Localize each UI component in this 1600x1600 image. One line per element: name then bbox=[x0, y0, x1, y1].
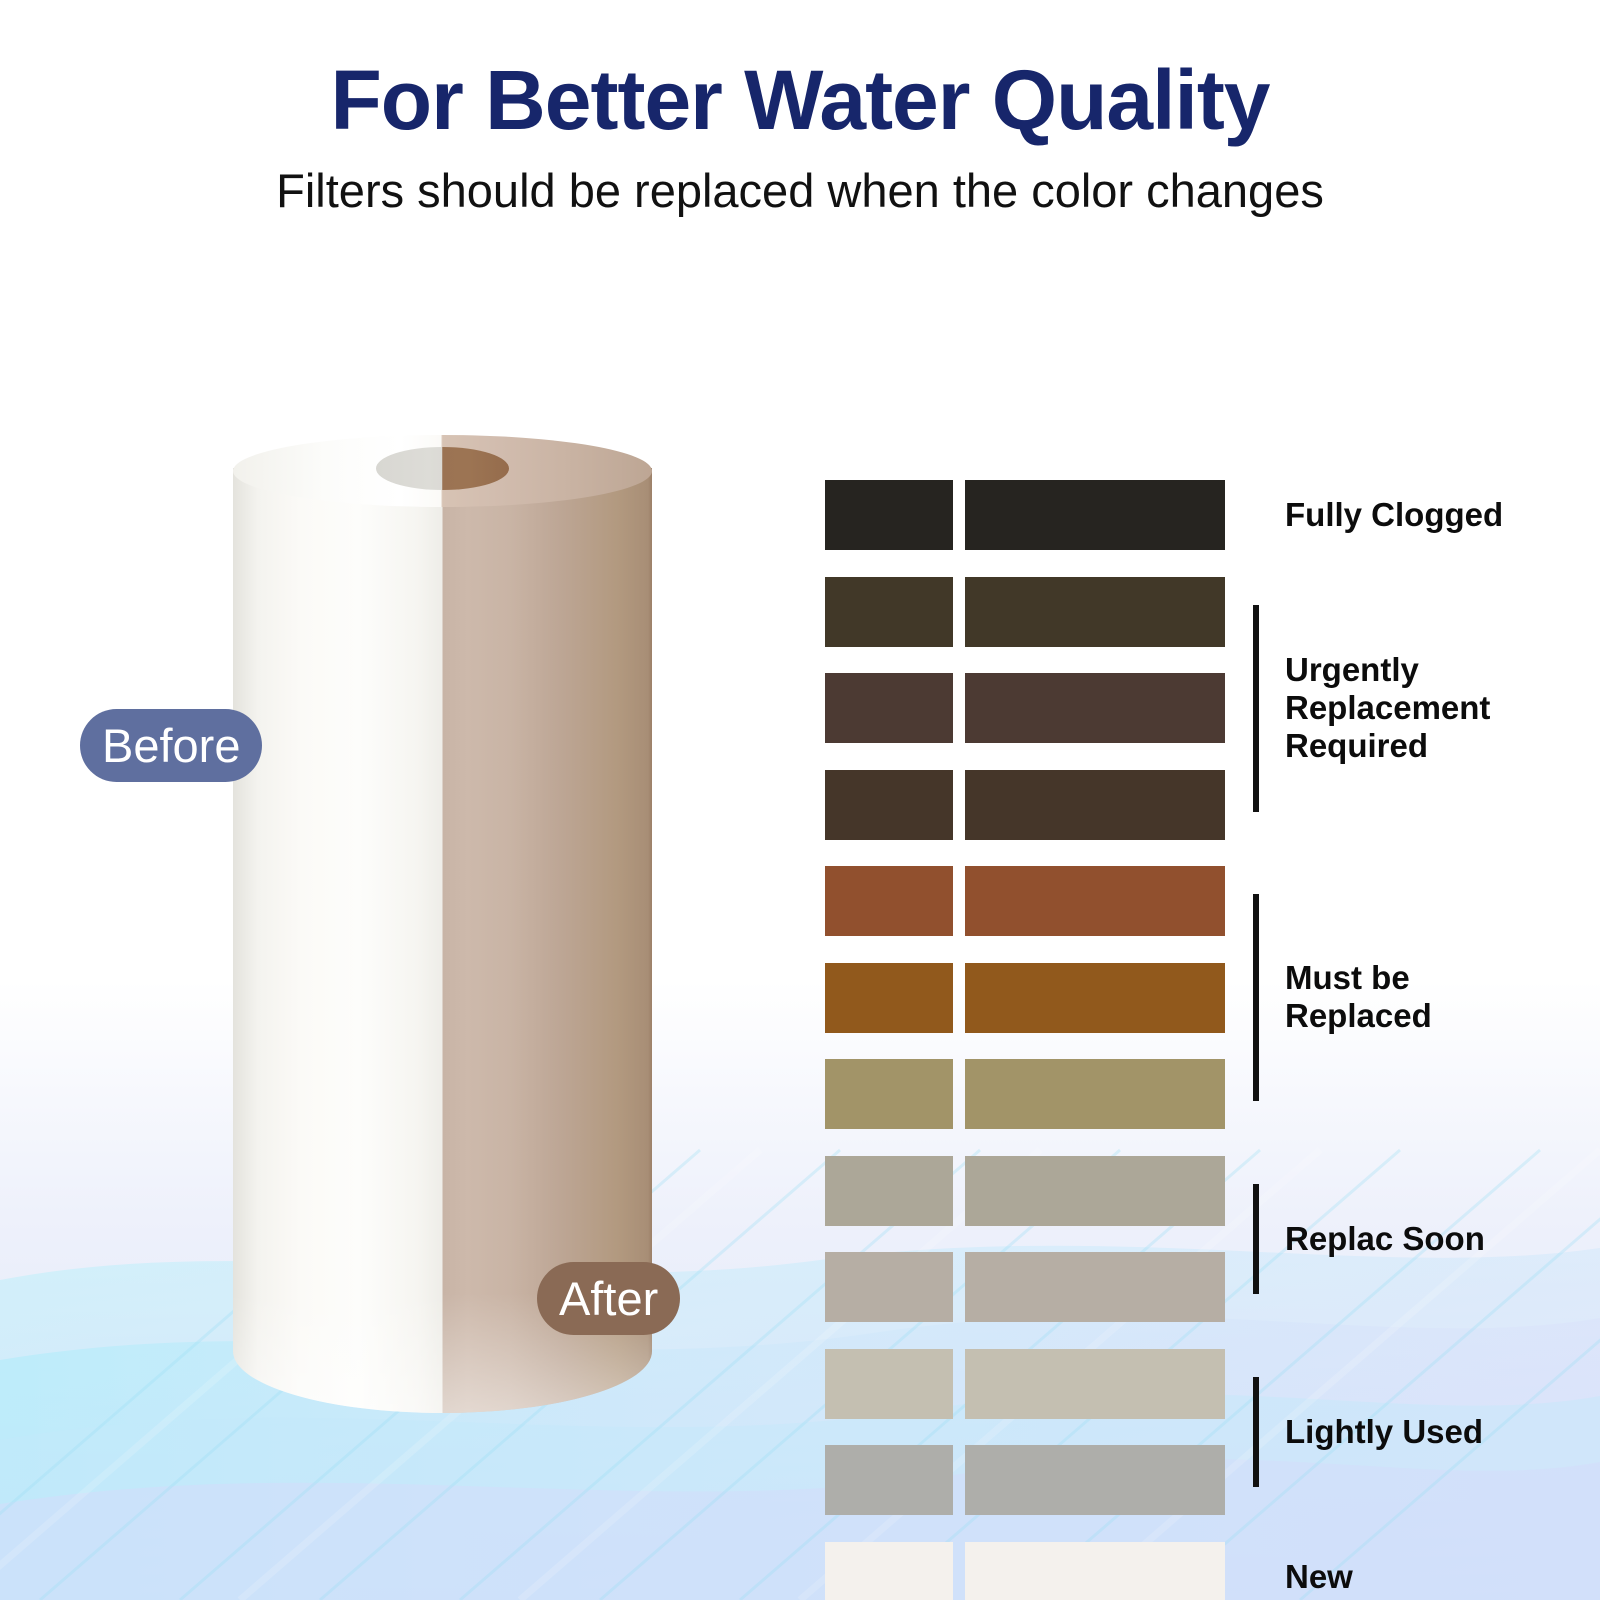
swatch-small bbox=[825, 673, 953, 743]
swatch-wide bbox=[965, 1349, 1225, 1419]
legend-label: Must be Replaced bbox=[1285, 959, 1432, 1036]
page-subtitle: Filters should be replaced when the colo… bbox=[0, 166, 1600, 215]
before-badge-label: Before bbox=[102, 722, 240, 769]
swatch-wide bbox=[965, 673, 1225, 743]
swatch-row bbox=[825, 1445, 1225, 1515]
swatch-small bbox=[825, 480, 953, 550]
filter-center-hole bbox=[376, 447, 509, 490]
legend-label: Replac Soon bbox=[1285, 1220, 1485, 1258]
swatch-wide bbox=[965, 480, 1225, 550]
swatch-small bbox=[825, 1349, 953, 1419]
swatch-row bbox=[825, 866, 1225, 936]
swatch-row bbox=[825, 1156, 1225, 1226]
swatch-wide bbox=[965, 963, 1225, 1033]
swatch-row bbox=[825, 673, 1225, 743]
swatch-row bbox=[825, 1349, 1225, 1419]
after-badge-label: After bbox=[559, 1275, 658, 1322]
swatch-wide bbox=[965, 1542, 1225, 1600]
swatch-wide bbox=[965, 1252, 1225, 1322]
swatch-small bbox=[825, 1059, 953, 1129]
promo-graphic: For Better Water Quality Filters should … bbox=[0, 0, 1600, 1600]
legend-bracket bbox=[1253, 894, 1259, 1101]
swatch-row bbox=[825, 1542, 1225, 1600]
swatch-wide bbox=[965, 866, 1225, 936]
swatch-small bbox=[825, 577, 953, 647]
swatch-wide bbox=[965, 577, 1225, 647]
color-reference-chart: Fully CloggedUrgently Replacement Requir… bbox=[825, 480, 1525, 1550]
swatch-row bbox=[825, 770, 1225, 840]
swatch-row bbox=[825, 1059, 1225, 1129]
swatch-row bbox=[825, 577, 1225, 647]
swatch-small bbox=[825, 866, 953, 936]
legend-bracket bbox=[1253, 1184, 1259, 1295]
swatch-row bbox=[825, 1252, 1225, 1322]
swatch-row bbox=[825, 480, 1225, 550]
before-badge: Before bbox=[80, 709, 262, 782]
swatch-wide bbox=[965, 770, 1225, 840]
legend-label: Urgently Replacement Required bbox=[1285, 651, 1490, 766]
legend-label: Lightly Used bbox=[1285, 1413, 1483, 1451]
after-badge: After bbox=[537, 1262, 680, 1335]
header: For Better Water Quality Filters should … bbox=[0, 58, 1600, 215]
page-title: For Better Water Quality bbox=[0, 58, 1600, 144]
swatch-small bbox=[825, 963, 953, 1033]
swatch-small bbox=[825, 1542, 953, 1600]
swatch-wide bbox=[965, 1059, 1225, 1129]
legend-bracket bbox=[1253, 1377, 1259, 1488]
swatch-small bbox=[825, 770, 953, 840]
swatch-wide bbox=[965, 1156, 1225, 1226]
swatch-wide bbox=[965, 1445, 1225, 1515]
legend-bracket bbox=[1253, 605, 1259, 812]
swatch-small bbox=[825, 1252, 953, 1322]
swatch-small bbox=[825, 1156, 953, 1226]
swatch-small bbox=[825, 1445, 953, 1515]
swatch-row bbox=[825, 963, 1225, 1033]
legend-label: Fully Clogged bbox=[1285, 496, 1503, 534]
legend-label: New bbox=[1285, 1558, 1353, 1596]
